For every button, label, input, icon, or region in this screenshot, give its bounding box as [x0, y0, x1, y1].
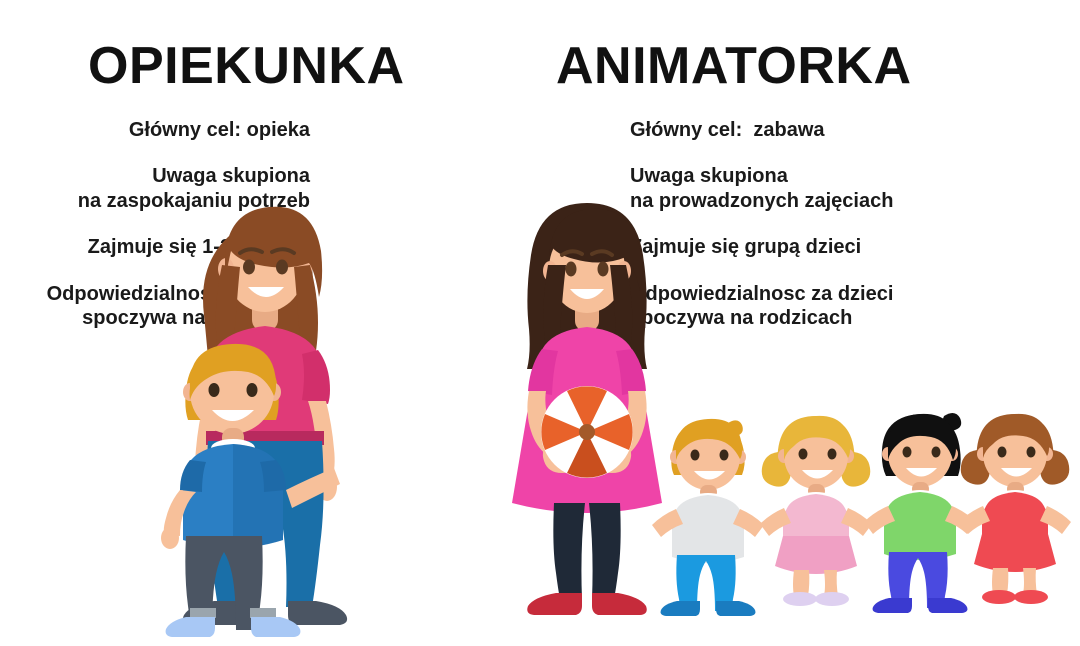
- point-right-1-line1: Uwaga skupiona: [630, 164, 960, 188]
- animator-shoe-left: [527, 593, 582, 615]
- child2-shoe-right: [815, 592, 849, 606]
- animator-shoe-right: [592, 593, 647, 615]
- animator-eye-left: [566, 262, 577, 277]
- boy-hand-left: [161, 527, 179, 549]
- goal-value-right: zabawa: [753, 119, 824, 141]
- caregiver-eye-left: [243, 260, 255, 275]
- child2-shoe-left: [783, 592, 817, 606]
- child2-dress-top: [783, 494, 849, 539]
- animator-eye-right: [598, 262, 609, 277]
- child1-eye-left: [691, 450, 700, 461]
- child1-shoe-left: [661, 601, 700, 616]
- child4-skirt: [974, 534, 1056, 572]
- illustration-boy: [142, 340, 322, 615]
- child4-shoe-right: [1014, 590, 1048, 604]
- caregiver-eye-right: [276, 260, 288, 275]
- child3-shoe-left: [873, 598, 912, 613]
- boy-shirt-shade: [233, 444, 283, 548]
- goal-row-left: Główny cel: opieka: [0, 118, 310, 142]
- boy-cuff-right-band: [250, 608, 276, 618]
- child2-eye-left: [799, 449, 808, 460]
- child-blond-boy: [652, 419, 764, 616]
- child1-shoe-right: [716, 601, 755, 616]
- child2-skirt: [775, 536, 857, 574]
- child-blond-girl: [760, 416, 872, 606]
- boy-eye-right: [247, 383, 258, 397]
- beach-ball-hub: [579, 424, 595, 440]
- boy-eye-left: [209, 383, 220, 397]
- point-left-1-line1: Uwaga skupiona: [0, 164, 310, 188]
- page-title-left: OPIEKUNKA: [88, 36, 405, 96]
- child2-eye-right: [828, 449, 837, 460]
- child4-eye-right: [1027, 447, 1036, 458]
- child-1-svg: [650, 415, 770, 605]
- goal-value-left: opieka: [247, 119, 310, 141]
- boy-svg: [142, 340, 322, 615]
- child-4-svg: [955, 410, 1080, 603]
- goal-label-right: Główny cel:: [630, 119, 742, 141]
- boy-cuff-left-band: [190, 608, 216, 618]
- child4-shoe-left: [982, 590, 1016, 604]
- child3-eye-right: [932, 447, 941, 458]
- child-brown-girl: [959, 414, 1071, 604]
- child3-eye-left: [903, 447, 912, 458]
- boy-shoe-left: [166, 617, 215, 637]
- child3-shirt: [884, 492, 956, 560]
- child4-dress-top: [982, 492, 1048, 537]
- beach-ball: [541, 386, 633, 478]
- child4-eye-left: [998, 447, 1007, 458]
- animator-leggings-right: [589, 503, 621, 599]
- illustration-child-1: [650, 415, 770, 605]
- child1-shirt: [672, 495, 744, 563]
- goal-label-left: Główny cel:: [129, 119, 241, 141]
- infographic-canvas: OPIEKUNKA ANIMATORKA Główny cel: opieka …: [0, 0, 1080, 646]
- animator-leggings: [553, 503, 585, 599]
- boy-figure: [161, 344, 340, 637]
- goal-row-right: Główny cel: zabawa: [630, 118, 960, 142]
- child1-eye-right: [720, 450, 729, 461]
- page-title-right: ANIMATORKA: [556, 36, 912, 96]
- illustration-child-4: [955, 410, 1080, 603]
